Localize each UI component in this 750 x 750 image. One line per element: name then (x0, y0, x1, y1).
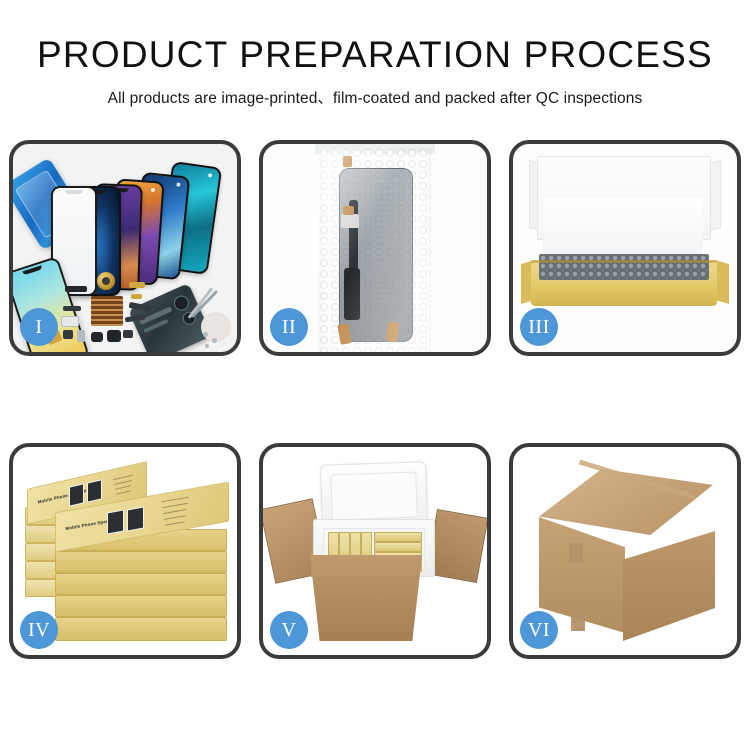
part-screw-b (212, 338, 217, 343)
page-title: PRODUCT PREPARATION PROCESS (0, 36, 750, 75)
page-subtitle: All products are image-printed、film-coat… (0, 86, 750, 108)
step-panel-5[interactable]: V (259, 443, 491, 659)
carton-tape-upper-icon (569, 543, 583, 563)
step-panel-4[interactable]: Mobile Phone Spare Parts Mobile Ph (9, 443, 241, 659)
part-gold-flex (129, 282, 145, 288)
part-camera-module (107, 330, 121, 342)
part-gold-tab (131, 294, 142, 299)
part-screw-a (203, 332, 208, 337)
part-small-chip (63, 330, 73, 339)
carton-right-face-icon (623, 531, 715, 641)
step-badge-4: IV (20, 611, 58, 649)
step-panel-1[interactable]: I (9, 140, 241, 356)
step-badge-2: II (270, 308, 308, 346)
carton-body-icon (305, 555, 427, 641)
step-panel-2[interactable]: II (259, 140, 491, 356)
step-badge-5: V (270, 611, 308, 649)
header: PRODUCT PREPARATION PROCESS All products… (0, 0, 750, 108)
product-preparation-infographic: PRODUCT PREPARATION PROCESS All products… (0, 0, 750, 750)
bubble-wrap-icon (319, 148, 431, 352)
part-button-flex (123, 330, 133, 338)
part-vibrator (91, 332, 103, 342)
step-badge-3: III (520, 308, 558, 346)
part-sim-tray (77, 330, 85, 342)
step-panel-3[interactable]: III (509, 140, 741, 356)
steps-grid: I II (0, 140, 750, 659)
carton-tape-lower-icon (571, 613, 585, 631)
step-badge-6: VI (520, 611, 558, 649)
speaker-coil-icon (97, 272, 115, 290)
white-foam-sheet-icon (543, 198, 703, 260)
step-badge-1: I (20, 308, 58, 346)
part-screw-c (205, 344, 209, 348)
part-battery-connector (65, 286, 87, 292)
logic-board-chip-icon (91, 296, 123, 326)
part-white-bracket (61, 316, 79, 327)
grey-foam-insert-icon (539, 254, 709, 280)
step-panel-6[interactable]: VI (509, 443, 741, 659)
part-antenna-strip (63, 306, 81, 311)
